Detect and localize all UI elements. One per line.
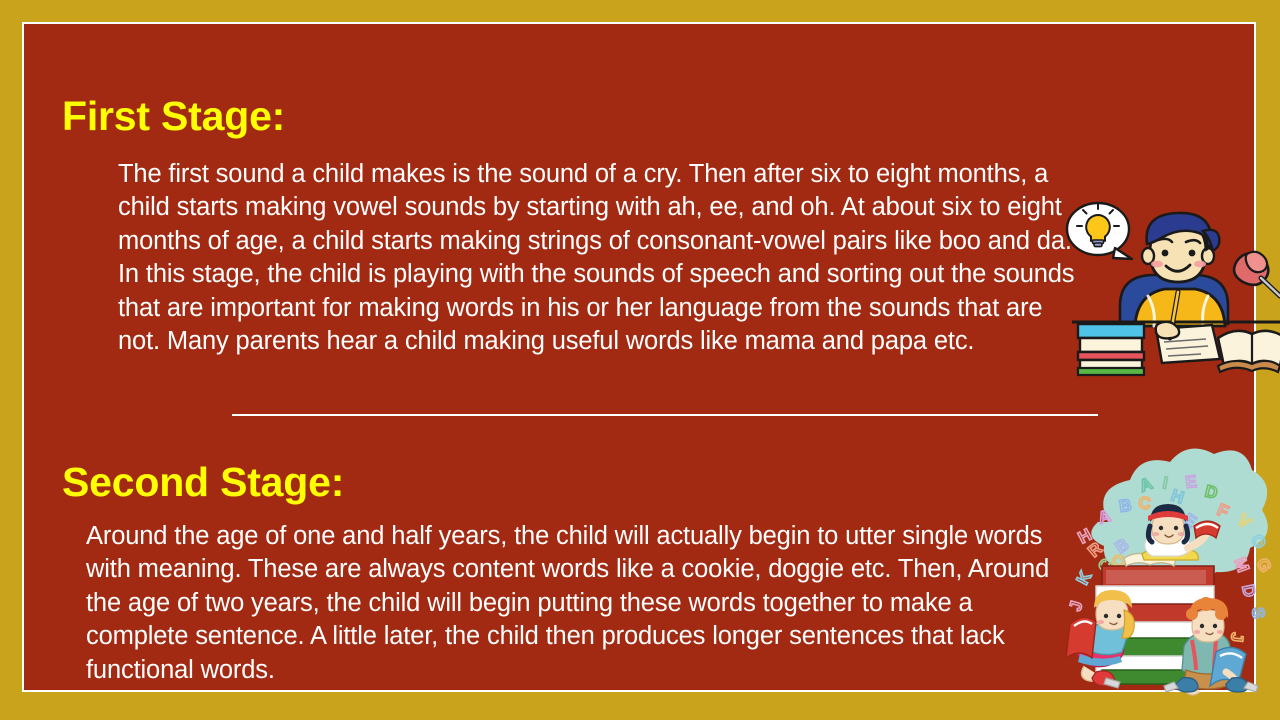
hand-shape	[1156, 322, 1179, 339]
desk-lamp-icon	[1234, 252, 1280, 296]
thought-bubble-icon	[1067, 203, 1132, 259]
open-book-icon	[1218, 331, 1280, 372]
svg-text:C: C	[1138, 493, 1152, 513]
boy-figure	[1135, 213, 1225, 326]
content-panel: First Stage: The first sound a child mak…	[22, 22, 1256, 692]
svg-text:G: G	[1252, 555, 1275, 576]
red-book-icon	[1066, 617, 1096, 658]
first-stage-heading: First Stage:	[62, 95, 285, 138]
second-stage-paragraph: Around the age of one and half years, th…	[86, 520, 1051, 688]
svg-text:E: E	[1184, 472, 1197, 492]
svg-text:J: J	[1066, 599, 1087, 613]
first-stage-paragraph: The first sound a child makes is the sou…	[118, 158, 1078, 359]
book-stack-icon	[1078, 324, 1144, 375]
second-stage-heading: Second Stage:	[62, 461, 344, 504]
svg-text:B: B	[1118, 495, 1133, 516]
svg-text:S: S	[1248, 606, 1268, 619]
svg-text:K: K	[1073, 567, 1096, 587]
section-divider	[232, 414, 1098, 416]
svg-text:D: D	[1238, 583, 1259, 599]
svg-text:J: J	[1227, 632, 1247, 643]
slide-root: First Stage: The first sound a child mak…	[0, 0, 1280, 720]
kids-reading-books-illustration: H A B C A I H E D F E J V O G M D	[1066, 466, 1280, 688]
boy-studying-illustration	[1058, 196, 1280, 374]
